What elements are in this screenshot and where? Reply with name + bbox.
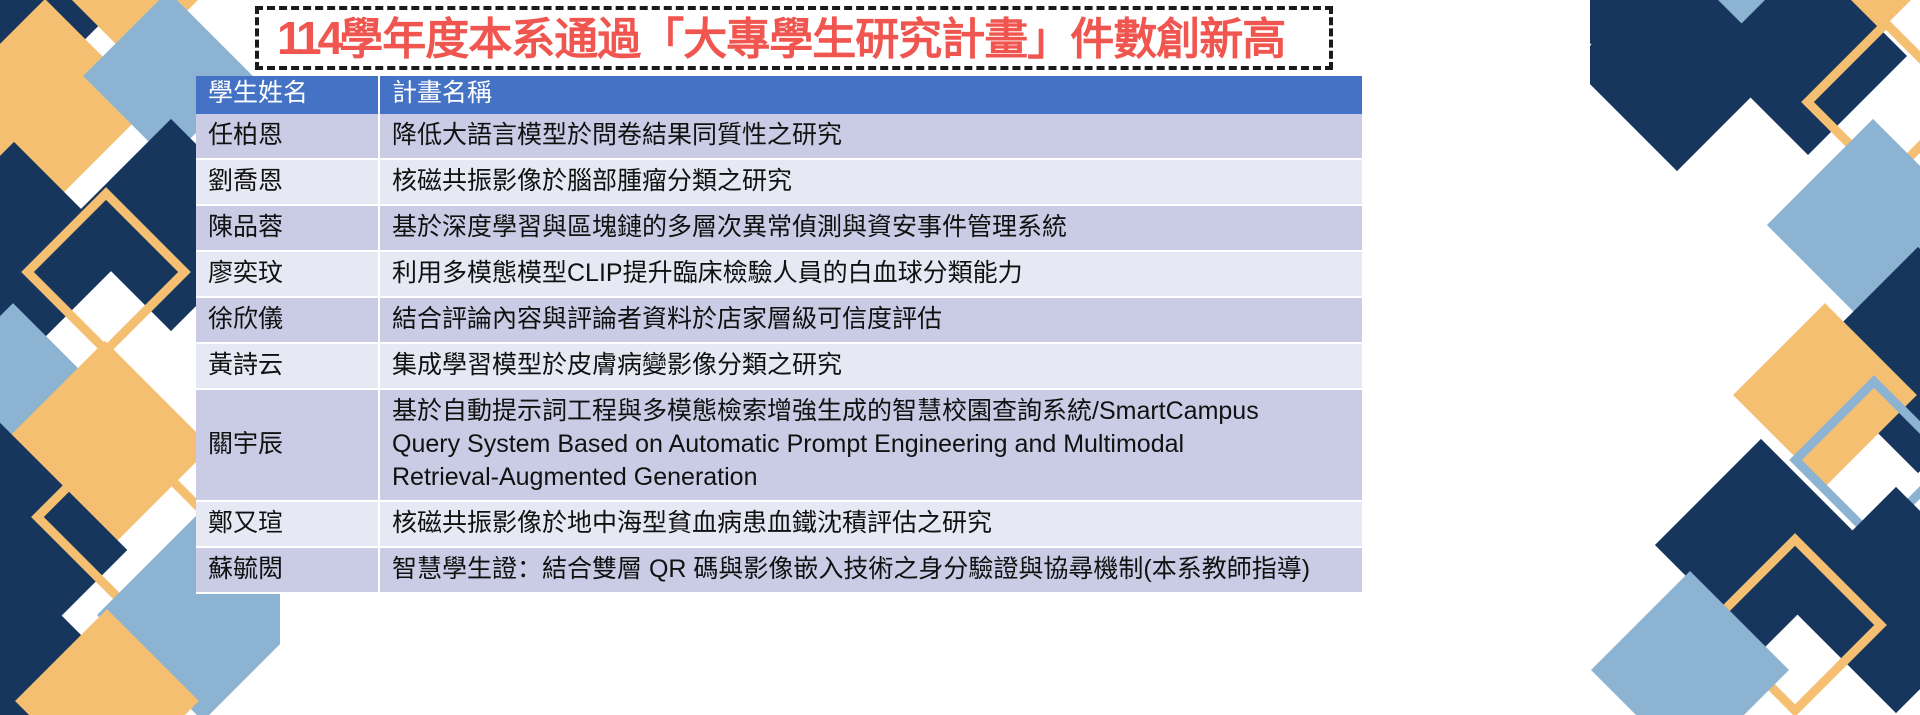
table-body: 任柏恩降低大語言模型於問卷結果同質性之研究劉喬恩核磁共振影像於腦部腫瘤分類之研究… [196, 114, 1362, 593]
cell-student-name: 徐欣儀 [196, 297, 379, 343]
cell-project-title: 核磁共振影像於地中海型貧血病患血鐵沈積評估之研究 [379, 501, 1362, 547]
decor-diamond [0, 423, 127, 678]
cell-project-title: 利用多模態模型CLIP提升臨床檢驗人員的白血球分類能力 [379, 251, 1362, 297]
cell-project-title: 結合評論內容與評論者資料於店家層級可信度評估 [379, 297, 1362, 343]
decor-diamond [1759, 0, 1920, 53]
decor-diamond [1590, 0, 1783, 171]
decor-diamond [1631, 0, 1843, 61]
decor-diamond [0, 0, 134, 124]
cell-student-name: 蘇毓閎 [196, 547, 379, 593]
table-row: 徐欣儀結合評論內容與評論者資料於店家層級可信度評估 [196, 297, 1362, 343]
cell-student-name: 關宇辰 [196, 389, 379, 501]
decor-diamond-outline [21, 187, 191, 357]
decor-diamond [0, 142, 127, 368]
decor-diamond [0, 303, 105, 487]
table-row: 廖奕玟利用多模態模型CLIP提升臨床檢驗人員的白血球分類能力 [196, 251, 1362, 297]
decorative-background-right [1590, 0, 1920, 715]
projects-table: 學生姓名 計畫名稱 任柏恩降低大語言模型於問卷結果同質性之研究劉喬恩核磁共振影像… [196, 76, 1362, 594]
decor-diamond-outline [1801, 17, 1920, 187]
cell-project-title: 智慧學生證：結合雙層 QR 碼與影像嵌入技術之身分驗證與協尋機制(本系教師指導) [379, 547, 1362, 593]
table-row: 關宇辰基於自動提示詞工程與多模態檢索增強生成的智慧校園查詢系統/SmartCam… [196, 389, 1362, 501]
cell-student-name: 鄭又瑄 [196, 501, 379, 547]
decor-diamond [1733, 303, 1917, 487]
decor-diamond [1591, 571, 1789, 715]
slide-title-banner: 114學年度本系通過「大專學生研究計畫」件數創新高 [255, 6, 1333, 70]
cell-student-name: 陳品蓉 [196, 205, 379, 251]
table-row: 任柏恩降低大語言模型於問卷結果同質性之研究 [196, 114, 1362, 159]
table-header-row: 學生姓名 計畫名稱 [196, 76, 1362, 114]
project-title-line: Retrieval-Augmented Generation [392, 461, 1352, 494]
decor-diamond [0, 0, 151, 211]
decor-diamond [29, 0, 241, 63]
cell-student-name: 黃詩云 [196, 343, 379, 389]
slide-title-text: 114學年度本系通過「大專學生研究計畫」件數創新高 [259, 15, 1285, 62]
table-row: 鄭又瑄核磁共振影像於地中海型貧血病患血鐵沈積評估之研究 [196, 501, 1362, 547]
decor-diamond [0, 341, 211, 553]
table-row: 陳品蓉基於深度學習與區塊鏈的多層次異常偵測與資安事件管理系統 [196, 205, 1362, 251]
cell-project-title: 集成學習模型於皮膚病變影像分類之研究 [379, 343, 1362, 389]
cell-project-title: 基於自動提示詞工程與多模態檢索增強生成的智慧校園查詢系統/SmartCampus… [379, 389, 1362, 501]
decor-diamond [15, 609, 199, 715]
decor-diamond [1709, 0, 1907, 155]
slide-canvas: 114學年度本系通過「大專學生研究計畫」件數創新高 學生姓名 計畫名稱 任柏恩降… [0, 0, 1920, 715]
column-header-student-name: 學生姓名 [196, 76, 379, 114]
decor-diamond [1767, 119, 1920, 331]
decor-diamond-outline [31, 425, 215, 609]
column-header-project-title: 計畫名稱 [379, 76, 1362, 114]
decor-diamond [1655, 439, 1867, 651]
table-header: 學生姓名 計畫名稱 [196, 76, 1362, 114]
project-title-line: 基於自動提示詞工程與多模態檢索增強生成的智慧校園查詢系統/SmartCampus [392, 395, 1352, 428]
decor-diamond [1783, 487, 1920, 713]
decor-diamond-outline [1789, 375, 1920, 545]
cell-student-name: 廖奕玟 [196, 251, 379, 297]
project-title-line: Query System Based on Automatic Prompt E… [392, 428, 1352, 461]
slide-title-number: 114 [277, 12, 339, 64]
decor-diamond [0, 589, 141, 715]
table-row: 黃詩云集成學習模型於皮膚病變影像分類之研究 [196, 343, 1362, 389]
table-row: 蘇毓閎智慧學生證：結合雙層 QR 碼與影像嵌入技術之身分驗證與協尋機制(本系教師… [196, 547, 1362, 593]
projects-table-container: 學生姓名 計畫名稱 任柏恩降低大語言模型於問卷結果同質性之研究劉喬恩核磁共振影像… [196, 76, 1362, 594]
cell-student-name: 任柏恩 [196, 114, 379, 159]
cell-project-title: 基於深度學習與區塊鏈的多層次異常偵測與資安事件管理系統 [379, 205, 1362, 251]
cell-project-title: 核磁共振影像於腦部腫瘤分類之研究 [379, 159, 1362, 205]
cell-project-title: 降低大語言模型於問卷結果同質性之研究 [379, 114, 1362, 159]
decor-diamond-outline [1703, 533, 1887, 715]
table-row: 劉喬恩核磁共振影像於腦部腫瘤分類之研究 [196, 159, 1362, 205]
decor-diamond [1590, 0, 1743, 83]
decor-diamond [1805, 247, 1920, 473]
slide-title-rest: 學年度本系通過「大專學生研究計畫」件數創新高 [339, 15, 1285, 64]
cell-student-name: 劉喬恩 [196, 159, 379, 205]
